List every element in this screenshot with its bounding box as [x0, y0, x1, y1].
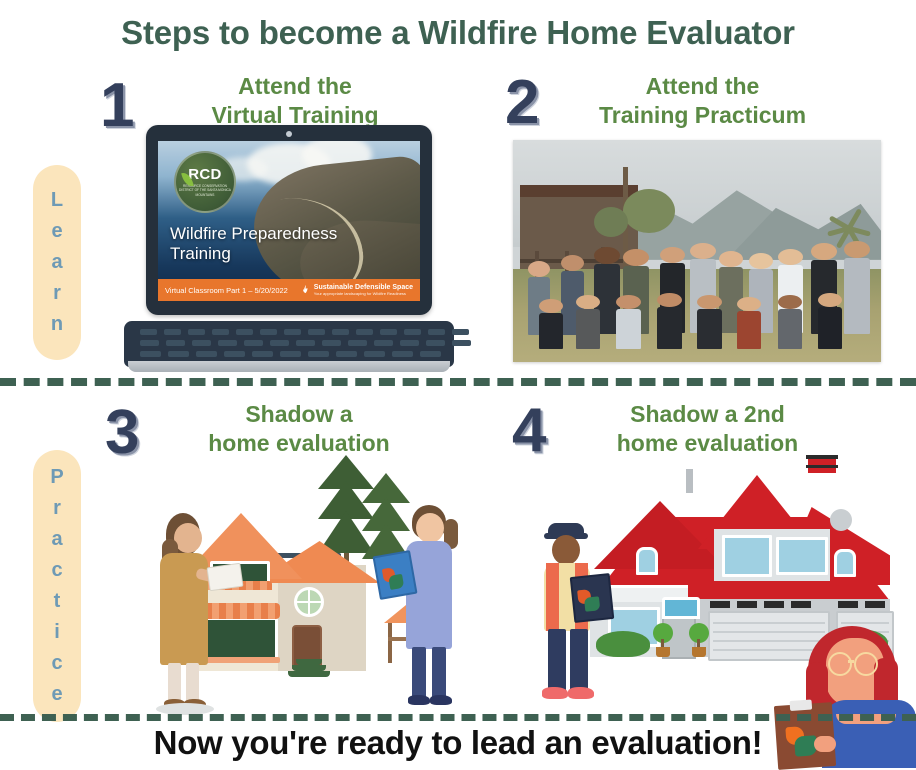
closing-banner: Now you're ready to lead an evaluation! — [0, 724, 916, 762]
figure-evaluator — [392, 505, 468, 715]
shoe — [408, 695, 430, 705]
phase-letter: r — [53, 278, 61, 309]
slide-footer-bar: Virtual Classroom Part 1 – 5/20/2022 Sus… — [158, 279, 420, 301]
step-heading-2-line1: Attend the — [570, 72, 835, 101]
shirt — [406, 541, 452, 649]
clipboard — [570, 573, 615, 623]
photo-person-kneeling — [737, 297, 761, 349]
laptop-foot — [128, 361, 450, 372]
step-number-3: 3 — [105, 402, 137, 464]
phase-letter: a — [51, 247, 62, 278]
page-title: Steps to become a Wildfire Home Evaluato… — [0, 14, 916, 52]
phase-letter: e — [51, 679, 62, 710]
gable-vent-window-right — [834, 549, 856, 577]
step-heading-4: Shadow a 2nd home evaluation — [580, 400, 835, 458]
figure-homeowner — [148, 513, 224, 713]
dormer-window-left — [722, 535, 772, 577]
rcd-logo-text: RCD — [188, 167, 221, 182]
step-heading-2-line2: Training Practicum — [570, 101, 835, 130]
laptop-camera-icon — [286, 131, 292, 137]
shoe — [430, 695, 452, 705]
evaluation-form — [206, 563, 243, 591]
laptop-screen: RCD RESOURCE CONSERVATION DISTRICT OF TH… — [158, 141, 420, 301]
phase-letter: t — [54, 586, 61, 617]
phase-letter: r — [53, 493, 61, 524]
phase-letter: e — [51, 216, 62, 247]
step-heading-1-line1: Attend the — [170, 72, 420, 101]
flame-leaf-icon — [300, 284, 311, 295]
phase-letter: c — [51, 648, 62, 679]
photo-person-kneeling — [818, 293, 842, 349]
house-round-window — [294, 587, 324, 617]
photo-person-kneeling — [616, 295, 641, 349]
slide-footer-left: Virtual Classroom Part 1 – 5/20/2022 — [165, 286, 288, 295]
phase-pill-practice: P r a c t i c e — [33, 450, 81, 722]
step-heading-3: Shadow a home evaluation — [175, 400, 423, 458]
head — [552, 535, 580, 565]
laptop-illustration: RCD RESOURCE CONSERVATION DISTRICT OF TH… — [124, 125, 454, 365]
glasses-right-lens — [854, 652, 878, 676]
infographic-canvas: Steps to become a Wildfire Home Evaluato… — [0, 0, 916, 768]
step-heading-3-line1: Shadow a — [175, 400, 423, 429]
figure-evaluator-vest — [530, 523, 610, 709]
slide-title-line2: Training — [170, 244, 337, 265]
laptop-lid: RCD RESOURCE CONSERVATION DISTRICT OF TH… — [146, 125, 432, 315]
step-heading-4-line1: Shadow a 2nd — [580, 400, 835, 429]
phase-letter: n — [51, 309, 63, 340]
step-number-2: 2 — [505, 72, 537, 134]
photo-palm-tree — [828, 207, 870, 245]
phase-letter: P — [50, 462, 63, 493]
slide-footer-right-sub: Your appropriate landscaping for Wildfir… — [314, 292, 413, 296]
shoe — [568, 687, 594, 699]
potted-tree — [652, 623, 674, 657]
clipboard-clip — [790, 699, 813, 711]
section-divider-bottom — [0, 714, 916, 721]
home-evaluation-illustration — [140, 455, 470, 713]
photo-person-kneeling — [576, 295, 600, 349]
rcd-logo-subtext: RESOURCE CONSERVATION DISTRICT OF THE SA… — [176, 184, 234, 197]
photo-person — [844, 241, 870, 335]
phase-letter: i — [54, 617, 60, 648]
shoe — [542, 687, 568, 699]
gable-vent-window-left — [636, 547, 658, 575]
safety-vest-left — [546, 563, 559, 631]
satellite-dish-icon — [830, 509, 852, 531]
photo-person-kneeling — [697, 295, 722, 349]
phase-pill-learn: L e a r n — [33, 165, 81, 360]
group-photo — [513, 140, 881, 362]
slide-title-line1: Wildfire Preparedness — [170, 224, 337, 245]
clipboard — [372, 550, 417, 600]
section-divider-learn-practice — [0, 378, 916, 386]
phase-letter: c — [51, 555, 62, 586]
head — [174, 523, 202, 553]
photo-person-kneeling — [778, 295, 802, 349]
potted-tree — [688, 623, 710, 657]
photo-person-kneeling — [539, 299, 563, 349]
dormer-window-right — [776, 537, 828, 575]
phase-letter: a — [51, 524, 62, 555]
slide-title: Wildfire Preparedness Training — [170, 224, 337, 265]
rcd-logo: RCD RESOURCE CONSERVATION DISTRICT OF TH… — [174, 151, 236, 213]
step-heading-3-line2: home evaluation — [175, 429, 423, 458]
step-heading-4-line2: home evaluation — [580, 429, 835, 458]
photo-person-kneeling — [657, 293, 682, 349]
glasses-bridge — [848, 660, 854, 663]
step-heading-1: Attend the Virtual Training — [170, 72, 420, 130]
door-awning — [662, 597, 700, 619]
step-heading-2: Attend the Training Practicum — [570, 72, 835, 130]
slide-footer-right: Sustainable Defensible Space Your approp… — [300, 284, 413, 296]
glasses-left-lens — [828, 652, 852, 676]
head — [416, 513, 444, 543]
phase-letter: L — [51, 185, 63, 216]
step-number-4: 4 — [512, 400, 544, 462]
vent-pipe — [686, 469, 693, 493]
